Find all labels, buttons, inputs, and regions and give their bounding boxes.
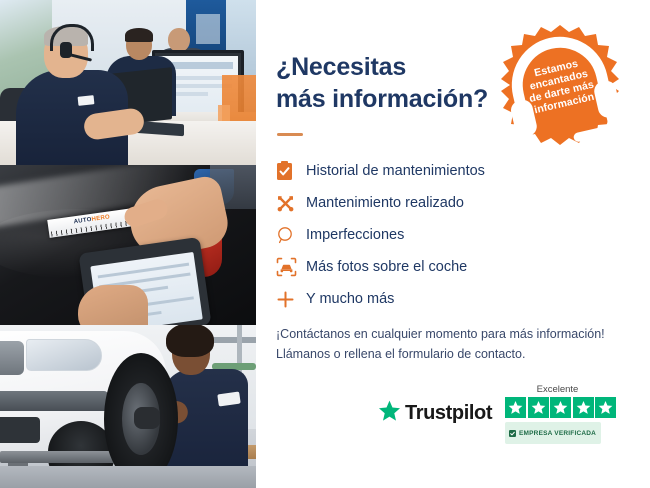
verified-label: EMPRESA VERIFICADA [519, 430, 596, 437]
headline-line-1: ¿Necesitas [276, 53, 406, 81]
car-grille [0, 341, 24, 375]
list-item: Mantenimiento realizado [276, 187, 576, 219]
trustpilot-rating: Excelente EMPRESA VERIFICADA [505, 384, 630, 444]
car-lower-vent [0, 417, 40, 443]
contact-copy: ¡Contáctanos en cualquier momento para m… [276, 324, 628, 365]
person-c-head [168, 28, 190, 52]
contact-line-2: Llámanos o rellena el formulario de cont… [276, 344, 628, 364]
list-item: Historial de mantenimientos [276, 155, 576, 187]
feature-label: Mantenimiento realizado [306, 196, 464, 211]
mechanic-glove [134, 407, 160, 429]
verified-check-icon [509, 424, 516, 442]
contact-line-1: ¡Contáctanos en cualquier momento para m… [276, 324, 628, 344]
star-filled [505, 397, 526, 418]
feature-list: Historial de mantenimientos M [276, 155, 576, 315]
photo-call-center [0, 0, 256, 165]
rating-label: Excelente [505, 384, 610, 395]
crossed-tools-icon [276, 194, 306, 213]
photo-mechanic-wheel [0, 325, 256, 488]
star-filled [528, 397, 549, 418]
trustpilot-logo[interactable]: Trustpilot [378, 400, 492, 427]
plus-icon [276, 290, 306, 309]
title-underline-rule [277, 133, 303, 136]
star-filled [573, 397, 594, 418]
autohero-more-info-banner: AUTOHERO [0, 0, 650, 488]
photo-ruler-inspection: AUTOHERO [0, 165, 256, 325]
star-filled [550, 397, 571, 418]
car-headlight [26, 339, 102, 371]
ruler-brand-hero: HERO [91, 214, 110, 223]
content-panel: ¿Necesitas más información? Esta [256, 0, 650, 488]
person-a-name-badge [78, 95, 95, 106]
page-title: ¿Necesitas más información? [276, 52, 506, 115]
inspector-hand-holding-tablet [78, 285, 148, 325]
list-item: Más fotos sobre el coche [276, 251, 576, 283]
magnifier-icon [276, 226, 306, 245]
ruler-brand-auto: AUTO [73, 217, 92, 225]
promo-starburst-badge: Estamos encantados de darte más informac… [499, 24, 621, 146]
star-filled [595, 397, 616, 418]
person-b-hair [125, 28, 153, 42]
trustpilot-widget[interactable]: Trustpilot Excelente [378, 384, 630, 446]
feature-label: Imperfecciones [306, 228, 404, 243]
verified-business-badge: EMPRESA VERIFICADA [505, 422, 601, 444]
clipboard-check-icon [276, 161, 306, 181]
garage-floor [0, 466, 256, 488]
car-bumper-vent [0, 391, 108, 411]
list-item: Imperfecciones [276, 219, 576, 251]
trustpilot-star-icon [378, 400, 401, 427]
headline-line-2: más información? [276, 85, 488, 113]
mechanic-hair [166, 325, 214, 357]
star-rating [505, 397, 621, 418]
feature-label: Más fotos sobre el coche [306, 260, 467, 275]
trustpilot-wordmark: Trustpilot [405, 402, 492, 425]
photo-column: AUTOHERO [0, 0, 256, 488]
feature-label: Historial de mantenimientos [306, 164, 485, 179]
feature-label: Y mucho más [306, 292, 394, 307]
poster-shape [196, 14, 220, 44]
car-scan-icon [276, 257, 306, 277]
list-item: Y mucho más [276, 283, 576, 315]
